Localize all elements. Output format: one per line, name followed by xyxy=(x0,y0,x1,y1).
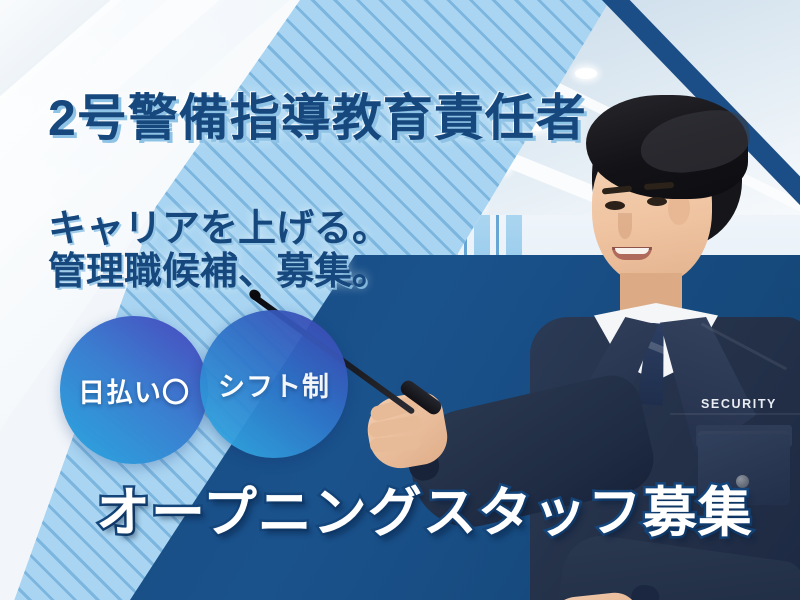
subheadline-line-2: 管理職候補、募集。 xyxy=(48,251,390,294)
page-title: 2号警備指導教育責任者 xyxy=(48,78,587,150)
nose xyxy=(618,213,632,239)
eye-right xyxy=(647,197,667,206)
call-to-action-text: オープニングスタッフ募集 xyxy=(96,468,753,547)
teeth xyxy=(615,248,649,254)
job-ad-banner: SECURITY 2号警備指導教育責任者 キャリアを上げる。 管理職候補、募集。… xyxy=(0,0,800,600)
badge-shift-system: シフト制 xyxy=(200,310,348,458)
badge-daily-payment: 日払い〇 xyxy=(60,316,208,464)
subheadline: キャリアを上げる。 管理職候補、募集。 xyxy=(48,208,390,295)
eye-left xyxy=(605,201,625,210)
subheadline-line-1: キャリアを上げる。 xyxy=(48,208,390,251)
security-uniform-label: SECURITY xyxy=(680,393,798,415)
